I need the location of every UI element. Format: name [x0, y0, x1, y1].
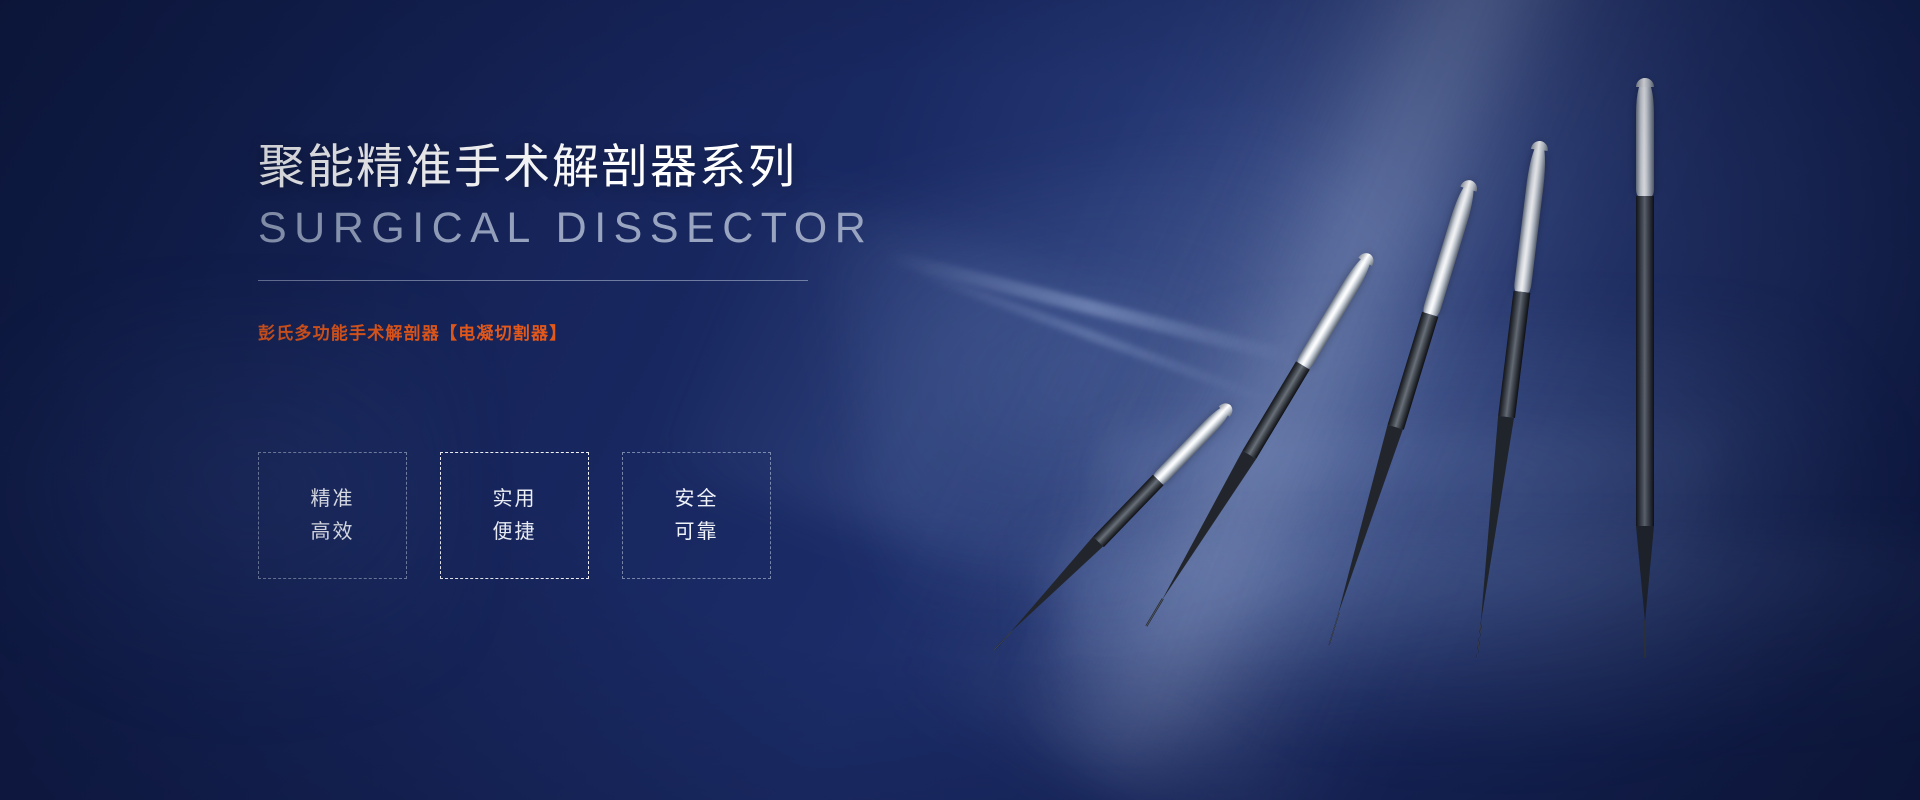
- feature-box-2: 实用 便捷: [440, 452, 589, 579]
- feature-2-line-1: 实用: [493, 489, 537, 509]
- headline-block: 聚能精准手术解剖器系列 SURGICAL DISSECTOR 彭氏多功能手术解剖…: [258, 140, 978, 344]
- instrument-2-shaft: [1242, 361, 1309, 458]
- instrument-5-tip: [1644, 620, 1646, 658]
- instrument-2-taper: [1155, 451, 1256, 605]
- instrument-1-shaft: [1093, 475, 1164, 547]
- product-image: [0, 0, 1920, 800]
- feature-2-line-2: 便捷: [493, 522, 537, 542]
- instrument-1-tip: [994, 630, 1013, 650]
- instrument-3-taper: [1330, 425, 1403, 617]
- instrument-2-tip: [1146, 598, 1164, 626]
- instrument-5-taper: [1636, 526, 1654, 622]
- ghost-surgeon-hand-b: [1120, 330, 1880, 750]
- instrument-3-tip: [1328, 612, 1340, 645]
- instrument-4-taper: [1473, 416, 1514, 624]
- instrument-3-handle: [1422, 178, 1479, 317]
- ghost-tray: [1056, 430, 1725, 660]
- instrument-1-handle: [1153, 400, 1236, 485]
- feature-box-1: 精准 高效: [258, 452, 407, 579]
- instrument-5-shaft: [1636, 196, 1654, 526]
- light-beam-2: [1043, 0, 1696, 789]
- feature-3-line-2: 可靠: [675, 522, 719, 542]
- instrument-3-shaft: [1388, 312, 1439, 430]
- feature-1-line-2: 高效: [311, 522, 355, 542]
- feature-box-3: 安全 可靠: [622, 452, 771, 579]
- feature-1-line-1: 精准: [311, 489, 355, 509]
- instrument-4-handle: [1513, 140, 1548, 293]
- product-name-label: 彭氏多功能手术解剖器【电凝切割器】: [258, 319, 978, 344]
- ghost-lower-drape: [1050, 545, 1920, 725]
- instrument-4-shaft: [1498, 291, 1530, 418]
- instrument-2-handle: [1296, 250, 1377, 370]
- instrument-1-taper: [1005, 537, 1103, 637]
- light-beam: [875, 0, 1785, 800]
- feature-list: 精准 高效 实用 便捷 安全 可靠: [258, 452, 771, 579]
- page-subtitle-english: SURGICAL DISSECTOR: [258, 204, 978, 252]
- vignette-overlay: [0, 0, 1920, 800]
- instrument-4-tip: [1476, 621, 1482, 657]
- instrument-5-handle: [1636, 78, 1654, 196]
- page-title: 聚能精准手术解剖器系列: [258, 140, 978, 194]
- hero-banner: 聚能精准手术解剖器系列 SURGICAL DISSECTOR 彭氏多功能手术解剖…: [0, 0, 1920, 800]
- divider: [258, 280, 808, 281]
- feature-3-line-1: 安全: [675, 489, 719, 509]
